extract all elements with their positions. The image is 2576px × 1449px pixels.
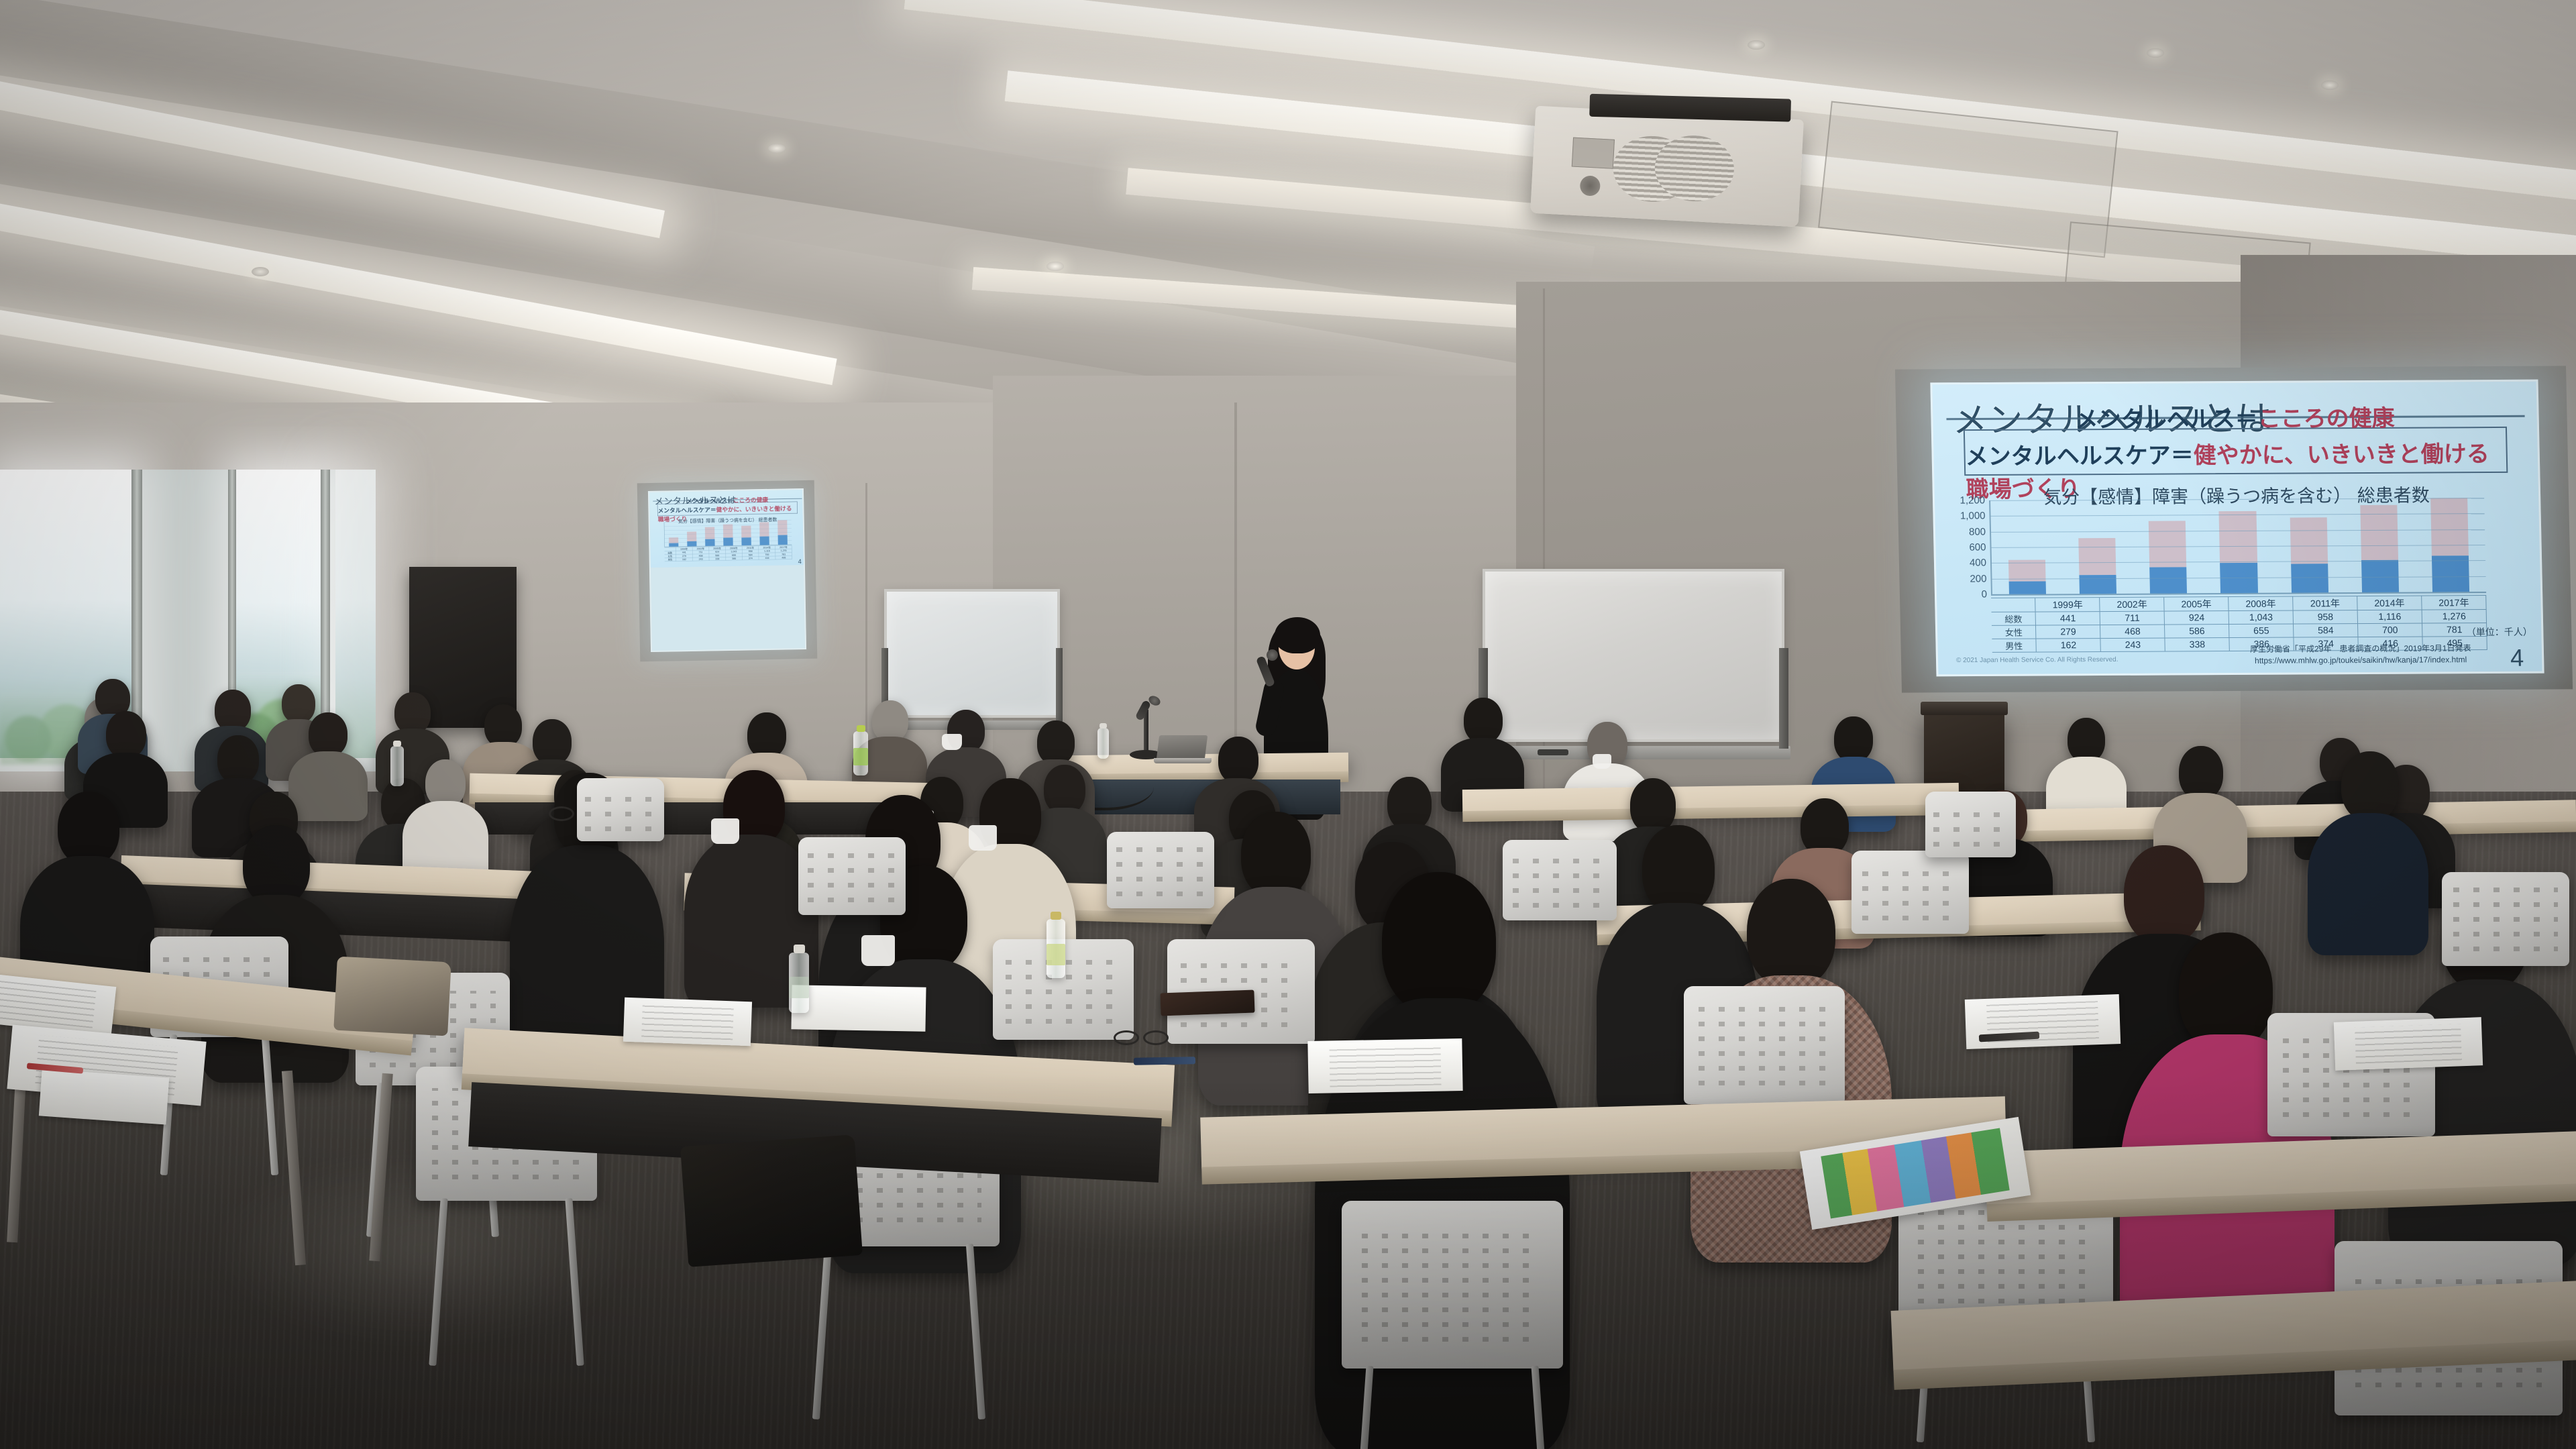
chart-table-cell: 924 <box>2165 611 2229 624</box>
chart-bar-segment-female <box>2078 538 2116 575</box>
chart-bar-segment-female <box>2149 521 2187 568</box>
chair-row2-3-perforation <box>1699 1005 1831 1085</box>
chair-row3-3-perforation <box>1513 853 1606 908</box>
slide-source: 厚生労働省「平成29年 患者調査の概況」2019年3月1日発表 https://… <box>2228 643 2494 667</box>
chart-table-cell: 162 <box>676 557 693 561</box>
whiteboard-left-leg-right <box>1056 648 1063 727</box>
chart-data-table-secondary: 1999年2002年2005年2008年2011年2014年2017年総数441… <box>664 545 792 557</box>
attendee-back-14-head <box>1037 720 1075 765</box>
slide-definition-line-1: メンタルヘルス＝こころの健康 <box>2075 399 2395 433</box>
ceiling-downlight-6 <box>2321 80 2339 90</box>
definition-1-prefix: メンタルヘルス＝ <box>2075 405 2258 433</box>
chart-table-column-header: 2005年 <box>2164 597 2229 610</box>
attendee-front-16 <box>2308 751 2428 953</box>
water-bottle-1-label <box>789 977 809 998</box>
chart-plot-area-secondary <box>664 520 792 547</box>
definition-1-highlight: こころの健康 <box>2257 405 2395 432</box>
ceiling-downlight-4 <box>1748 40 1765 50</box>
chart-table-row-header: 総数 <box>1992 612 2037 625</box>
attendee-front-2-head <box>243 825 310 906</box>
chart-table-column-header: 1999年 <box>2036 598 2100 611</box>
whiteboard-left-surface <box>884 589 1060 718</box>
chart-table-cell: 958 <box>2294 610 2358 623</box>
chair-row4-2-perforation <box>1933 802 2008 847</box>
attendee-front-1-head <box>58 792 119 865</box>
chart-data-table: 1999年2002年2005年2008年2011年2014年2017年総数441… <box>1991 595 2487 635</box>
whiteboard-right-leg-right <box>1779 648 1788 749</box>
attendee-back-12-head <box>872 700 908 742</box>
chart-bar-segment-female <box>687 532 696 541</box>
eyeglasses-lens-left <box>1114 1030 1139 1045</box>
chair-row3-5[interactable] <box>2442 872 2569 966</box>
chart-table-cell: 584 <box>2294 624 2358 637</box>
whiteboard-right-surface <box>1483 569 1784 742</box>
attendee-mid-3 <box>402 759 488 880</box>
attendee-front-8-head <box>1241 812 1311 898</box>
chart-table-cell: 243 <box>692 557 709 561</box>
def1h-s: こころの健康 <box>733 496 768 504</box>
front-desk-bottle[interactable] <box>1097 728 1109 759</box>
chart-table-cell: 441 <box>2036 612 2100 625</box>
chart-bar-segment-female <box>2290 517 2328 563</box>
chart-table-cell: 338 <box>709 557 726 560</box>
chart-table-cell: 1,116 <box>2358 610 2422 623</box>
attendee-front-13-head <box>2124 845 2204 945</box>
presenter-microphone-head <box>1267 649 1278 661</box>
chart-y-tick-label: 400 <box>1970 557 1992 569</box>
attendee-back-11-head <box>747 712 786 758</box>
attendee-back-16-head <box>1464 698 1503 743</box>
chart-table-cell: 468 <box>2100 625 2165 637</box>
handout-6[interactable] <box>1307 1038 1462 1093</box>
handout-3[interactable] <box>39 1069 169 1124</box>
water-bottle-2-cap <box>1051 912 1061 920</box>
handout-4[interactable] <box>623 998 752 1046</box>
slide-content-secondary: メンタルヘルスとは メンタルヘルス＝こころの健康 メンタルヘルスケア＝健やかに、… <box>649 490 806 568</box>
lectern-top-surface <box>1921 702 2008 715</box>
water-bottle-1-cap <box>794 945 805 953</box>
chart-bar-segment-male <box>2149 567 2187 594</box>
slide-page-number-secondary: 4 <box>798 558 802 566</box>
definition-2-prefix: メンタルヘルスケア＝ <box>1965 442 2194 470</box>
attendee-back-8-head <box>394 692 431 734</box>
handout-4-lines <box>641 1004 734 1040</box>
bag-on-chair[interactable] <box>333 957 451 1036</box>
attendee-back-13-mask <box>942 734 962 750</box>
water-bottle-4[interactable] <box>390 746 404 786</box>
chart-table-cell: 700 <box>2358 623 2422 636</box>
chair-row3-4-perforation <box>1862 864 1959 920</box>
chair-row1-6-perforation <box>1918 1207 2094 1318</box>
water-bottle-3[interactable] <box>853 731 868 775</box>
chart-y-tick-label: 800 <box>1969 526 1991 537</box>
presenter-hair <box>1275 617 1320 653</box>
attendee-front-7-mask <box>861 935 895 966</box>
chart-table-cell: 1,276 <box>2422 610 2487 623</box>
seminar-room-photo: メンタルヘルスとは メンタルヘルス＝こころの健康 メンタルヘルスケア＝健やかに、… <box>0 0 2576 1449</box>
projector-panel <box>1572 138 1615 169</box>
chart-bar-segment-female <box>2219 511 2257 563</box>
chart-table-cell: 711 <box>2100 611 2165 624</box>
ceiling-downlight-2 <box>252 267 269 276</box>
attendee-back-15-head <box>1218 737 1258 784</box>
def2p-s: メンタルヘルスケア＝ <box>657 506 716 515</box>
chair-row1-5-perforation <box>1362 1228 1544 1342</box>
ceiling-downlight-1 <box>768 144 786 153</box>
slide-source-line-2: https://www.mhlw.go.jp/toukei/saikin/hw/… <box>2228 654 2493 667</box>
water-bottle-4-cap <box>393 741 401 747</box>
attendee-front-4-mask <box>711 818 739 844</box>
chart-table-column-header: 2008年 <box>2229 596 2293 610</box>
chair-row3-5-perforation <box>2453 887 2558 951</box>
chart-table-cell: 374 <box>743 556 759 559</box>
slide-source-line-1: 厚生労働省「平成29年 患者調査の概況」2019年3月1日発表 <box>2228 643 2493 655</box>
chair-row3-2-perforation <box>1116 844 1204 896</box>
chair-row1-5[interactable] <box>1342 1201 1563 1368</box>
chart-table-column-header: 2014年 <box>2357 596 2422 609</box>
handout-6-lines <box>1330 1045 1442 1087</box>
projection-screen-secondary[interactable]: メンタルヘルスとは メンタルヘルス＝こころの健康 メンタルヘルスケア＝健やかに、… <box>648 488 806 652</box>
chart-y-tick-label: 1,000 <box>1960 511 1991 522</box>
chart-y-tick-label: 600 <box>1969 541 1991 553</box>
slide-copyright: © 2021 Japan Health Service Co. All Righ… <box>1956 656 2118 664</box>
chart-bar-segment-female <box>2360 504 2398 559</box>
notebook-on-desk[interactable] <box>1160 990 1254 1016</box>
chart-table-corner <box>1991 598 2036 611</box>
slide-content: メンタルヘルスとは メンタルヘルス＝こころの健康 メンタルヘルスケア＝健やかに、… <box>1932 382 2542 675</box>
attendee-back-18-head <box>1834 716 1873 762</box>
ceiling-projector-main <box>1530 106 1804 227</box>
chart-table-column-header: 2011年 <box>2293 596 2357 610</box>
chart-table-cell: 279 <box>2036 625 2100 638</box>
chart-table-row-header: 男性 <box>1992 639 2037 651</box>
attendee-back-17-mask <box>1593 754 1611 769</box>
def1p-s: メンタルヘルス＝ <box>686 497 733 504</box>
chart-table-cell: 338 <box>2165 638 2230 651</box>
attendee-mid-9-head <box>1387 777 1432 830</box>
slide-definition-line-1-secondary: メンタルヘルス＝こころの健康 <box>686 495 768 505</box>
chair-row4-1-perforation <box>585 788 657 831</box>
projector-mount <box>1589 94 1791 122</box>
slide-definition-box-secondary: メンタルヘルス＝こころの健康 メンタルヘルスケア＝健やかに、いきいきと働ける職場… <box>657 502 798 517</box>
wall-seam-1 <box>1234 402 1237 765</box>
chart-plot-area: 02004006008001,0001,200 <box>1989 498 2486 596</box>
slide-definition-box: メンタルヘルス＝こころの健康 メンタルヘルスケア＝健やかに、いきいきと働ける職場… <box>1964 427 2508 476</box>
chart-table-cell: 655 <box>2229 624 2294 637</box>
chart-bar-segment-female <box>723 525 733 538</box>
water-bottle-2-label <box>1046 944 1065 965</box>
attendee-back-5-head <box>106 711 146 758</box>
handout-8-lines <box>2355 1024 2462 1064</box>
chart-bar-segment-female <box>741 526 751 538</box>
eyeglasses-lens-right <box>1143 1030 1169 1045</box>
chart-y-tick-label: 1,200 <box>1960 494 1990 506</box>
chart-table-column-header: 2017年 <box>2422 596 2486 609</box>
water-bottle-3-cap <box>857 725 865 732</box>
chart-table-row-header: 女性 <box>1992 625 2037 638</box>
attendee-back-6-head <box>217 735 259 784</box>
chair-row3-1-perforation <box>808 850 896 903</box>
chair-row2-3[interactable] <box>1684 986 1845 1104</box>
attendee-back-3-head <box>215 690 251 731</box>
attendee-back-10-head <box>533 719 572 765</box>
chair-row3-2[interactable] <box>1107 832 1214 908</box>
chart-y-tick-label: 200 <box>1970 573 1992 584</box>
chart-bar-segment-male <box>2291 563 2328 593</box>
chart-bar-segment-male <box>741 537 751 545</box>
chart-table-cell: 162 <box>2037 639 2101 651</box>
chart-table-cell: 1,043 <box>2229 610 2294 623</box>
attendee-foreground-center-head <box>1382 872 1496 1014</box>
chair-row4-1[interactable] <box>577 778 664 841</box>
shoulder-bag[interactable] <box>680 1134 863 1267</box>
attendee-front-16-torso <box>2308 813 2428 955</box>
attendee-back-19-head <box>2068 718 2105 762</box>
ceiling-downlight-3 <box>1046 262 1064 271</box>
whiteboard-left <box>884 589 1060 718</box>
chart-table-cell: 586 <box>2165 625 2229 637</box>
attendee-front-3-lens <box>549 806 574 821</box>
attendee-mid-13-head <box>2179 746 2223 800</box>
projector-lens <box>1580 175 1601 197</box>
water-bottle-1[interactable] <box>789 953 809 1013</box>
chart-bar-segment-female <box>2430 498 2469 555</box>
chart-table-cell: 386 <box>726 557 743 560</box>
attendee-front-12-head <box>1747 879 1835 987</box>
attendee-front-16-head <box>2341 751 2399 821</box>
attendee-front-14-head <box>2179 932 2273 1051</box>
attendee-front-6-mask <box>969 825 997 851</box>
front-desk-bottle-cap <box>1099 723 1107 729</box>
handout-8[interactable] <box>2334 1017 2483 1071</box>
whiteboard-right <box>1483 569 1784 742</box>
pen-2[interactable] <box>1134 1057 1195 1065</box>
chart-unit-note: （単位：千人） <box>2467 625 2532 639</box>
chair-row4-2[interactable] <box>1925 792 2016 857</box>
projection-screen-main[interactable]: メンタルヘルスとは メンタルヘルス＝こころの健康 メンタルヘルスケア＝健やかに、… <box>1930 380 2544 677</box>
ceiling-downlight-5 <box>2147 48 2164 58</box>
chair-row3-1[interactable] <box>798 837 906 915</box>
chair-row3-4[interactable] <box>1851 851 1969 934</box>
attendee-back-7-head <box>309 712 347 757</box>
chart-table-cell: 243 <box>2101 638 2165 651</box>
water-bottle-2[interactable] <box>1046 919 1065 978</box>
water-bottle-3-label <box>853 748 868 765</box>
chart-table-row-header: 男性 <box>665 558 676 561</box>
handout-1-lines <box>0 980 96 1028</box>
chart-bar-segment-male <box>2009 582 2047 594</box>
chart-table-column-header: 2002年 <box>2100 597 2164 610</box>
chart-table-cell: 495 <box>775 556 792 559</box>
chair-row3-3[interactable] <box>1503 840 1617 920</box>
slide-page-number: 4 <box>2510 644 2524 672</box>
chart-table-cell: 416 <box>759 556 775 559</box>
handout-5[interactable] <box>791 985 926 1031</box>
chart-bar-segment-male <box>705 539 714 546</box>
